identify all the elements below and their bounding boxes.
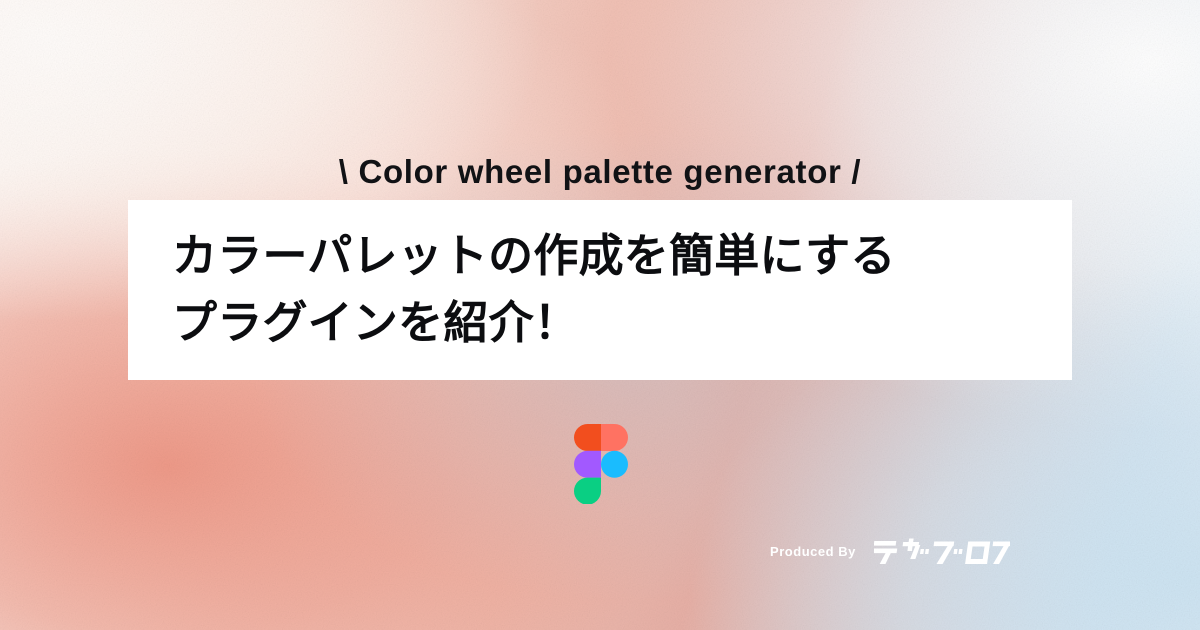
figma-logo [574, 424, 628, 504]
title-card: カラーパレットの作成を簡単にする プラグインを紹介！ [128, 200, 1072, 380]
title-line-2: プラグインを紹介！ [172, 289, 1028, 356]
banner-subtitle: \ Color wheel palette generator / [0, 152, 1200, 192]
credit-block: Produced By [770, 534, 1010, 568]
ogp-banner: \ Color wheel palette generator / カラーパレッ… [0, 0, 1200, 630]
banner-content: \ Color wheel palette generator / カラーパレッ… [0, 0, 1200, 630]
credit-label: Produced By [770, 544, 856, 559]
title-line-1: カラーパレットの作成を簡単にする [172, 222, 1028, 289]
desablog-logo [874, 536, 1010, 566]
